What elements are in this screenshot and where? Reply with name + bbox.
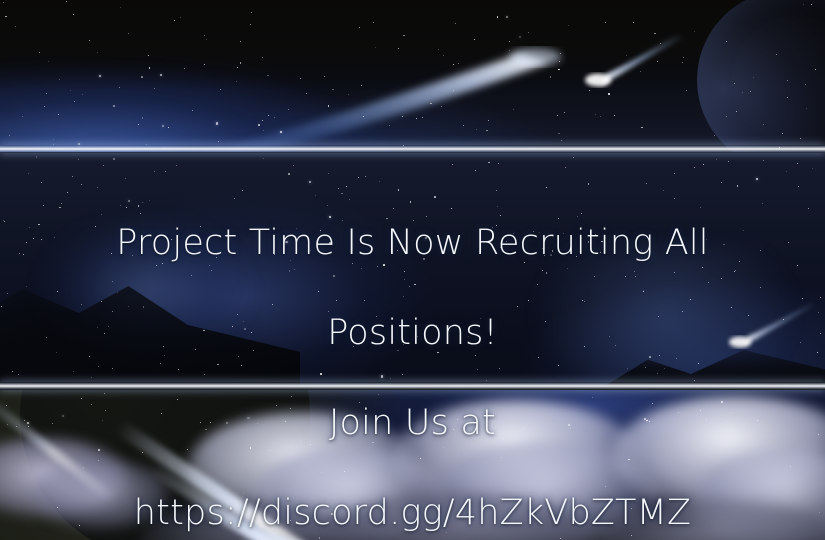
recruitment-banner: Project Time Is Now Recruiting All Posit…: [0, 0, 825, 540]
vignette-overlay: [0, 0, 825, 540]
